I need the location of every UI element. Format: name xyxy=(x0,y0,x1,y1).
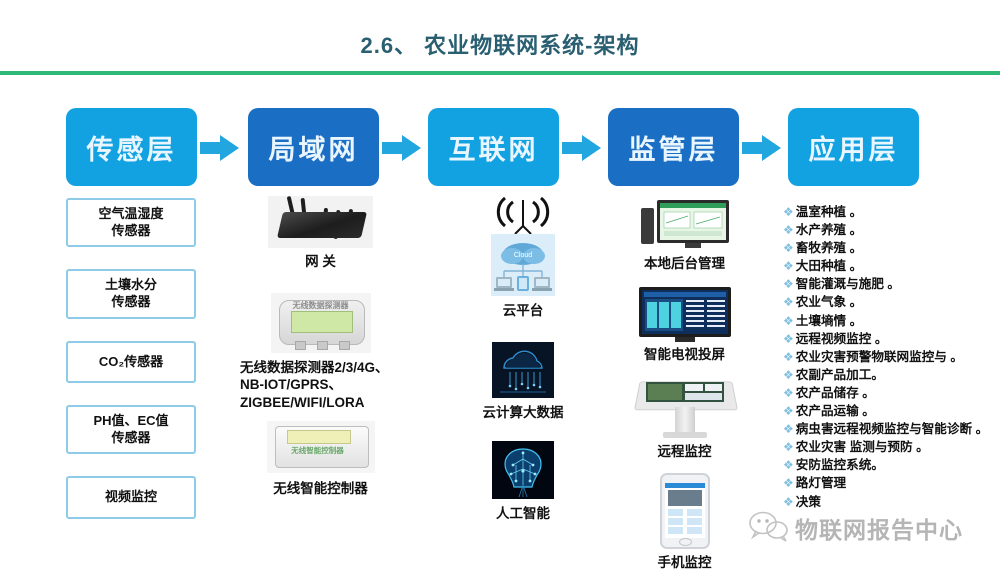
list-item[interactable]: ❖远程视频监控 。 xyxy=(783,330,998,348)
bullet-icon: ❖ xyxy=(783,203,794,221)
big-data-caption: 云计算大数据 xyxy=(448,404,598,422)
bullet-icon: ❖ xyxy=(783,384,794,402)
app-item-label: 土壤墒情 。 xyxy=(796,312,862,330)
smartphone-icon xyxy=(660,473,710,549)
flow-box-label: 互联网 xyxy=(449,128,539,167)
app-item-label: 大田种植 。 xyxy=(796,257,862,275)
desktop-pc-icon xyxy=(639,198,731,252)
flow-box-internet-layer[interactable]: 互联网 xyxy=(428,108,559,186)
remote-monitoring-caption: 远程监控 xyxy=(622,443,747,461)
bullet-icon: ❖ xyxy=(783,438,794,456)
gateway-caption: 网 关 xyxy=(238,253,403,271)
sensor-item-ph-ec[interactable]: PH值、EC值 传感器 xyxy=(66,405,196,454)
app-item-label: 路灯管理 xyxy=(796,474,846,492)
list-item[interactable]: ❖农产品储存 。 xyxy=(783,384,998,402)
list-item[interactable]: ❖农副产品加工。 xyxy=(783,366,998,384)
sensor-label-line1: PH值、EC值 xyxy=(93,413,168,428)
detector-device-label: 无线数据探测器 xyxy=(281,300,361,311)
sensor-label-line2: 传感器 xyxy=(70,223,192,240)
app-item-label: 智能灌溉与施肥 。 xyxy=(796,275,900,293)
sensor-item-air-temp-humidity[interactable]: 空气温湿度 传感器 xyxy=(66,198,196,247)
sensor-item-co2[interactable]: CO₂传感器 xyxy=(66,341,196,384)
bullet-icon: ❖ xyxy=(783,312,794,330)
list-item[interactable]: ❖智能灌溉与施肥 。 xyxy=(783,275,998,293)
page-title: 2.6、 农业物联网系统-架构 xyxy=(0,28,1000,60)
flow-arrow-3 xyxy=(562,134,602,162)
list-item[interactable]: ❖农产品运输 。 xyxy=(783,402,998,420)
bullet-icon: ❖ xyxy=(783,420,794,438)
smart-tv-caption: 智能电视投屏 xyxy=(622,346,747,364)
mobile-monitoring-caption: 手机监控 xyxy=(622,554,747,571)
list-item[interactable]: ❖农业灾害 监测与预防 。 xyxy=(783,438,998,456)
flow-box-supervision-layer[interactable]: 监管层 xyxy=(608,108,739,186)
flow-box-label: 应用层 xyxy=(809,128,899,167)
app-item-label: 农业气象 。 xyxy=(796,293,862,311)
flow-arrow-2 xyxy=(382,134,422,162)
title-divider xyxy=(0,71,1000,75)
flow-box-label: 传感层 xyxy=(87,128,177,167)
app-item-label: 病虫害远程视频监控与智能诊断 。 xyxy=(796,420,988,438)
app-item-label: 农产品运输 。 xyxy=(796,402,875,420)
app-item-label: 畜牧养殖 。 xyxy=(796,239,862,257)
list-item[interactable]: ❖大田种植 。 xyxy=(783,257,998,275)
sensor-label-line2: 传感器 xyxy=(70,294,192,311)
supervision-layer-column: 本地后台管理 智能电视投屏 xyxy=(622,198,747,571)
sensor-layer-column: 空气温湿度 传感器 土壤水分 传感器 CO₂传感器 PH值、EC值 传感器 视频… xyxy=(66,198,196,541)
flow-box-application-layer[interactable]: 应用层 xyxy=(788,108,919,186)
app-item-label: 农业灾害预警物联网监控与 。 xyxy=(796,348,963,366)
smart-tv-icon xyxy=(639,287,731,343)
sensor-label-line1: 空气温湿度 xyxy=(98,206,163,221)
bullet-icon: ❖ xyxy=(783,402,794,420)
cloud-platform-icon: Cloud xyxy=(491,234,555,296)
ai-brain-caption: 人工智能 xyxy=(448,505,598,523)
bullet-icon: ❖ xyxy=(783,348,794,366)
sensor-label-line2: 传感器 xyxy=(70,430,192,447)
sensor-item-video-surveillance[interactable]: 视频监控 xyxy=(66,476,196,519)
flow-box-label: 局域网 xyxy=(269,128,359,167)
bullet-icon: ❖ xyxy=(783,366,794,384)
wireless-controller-caption: 无线智能控制器 xyxy=(238,480,403,498)
wireless-controller-image: 无线智能控制器 xyxy=(267,421,375,473)
app-item-label: 农副产品加工。 xyxy=(796,366,884,384)
app-item-label: 水产养殖 。 xyxy=(796,221,862,239)
wechat-logo-icon xyxy=(747,510,789,547)
flow-box-sensor-layer[interactable]: 传感层 xyxy=(66,108,197,186)
bullet-icon: ❖ xyxy=(783,474,794,492)
controller-device-label: 无线智能控制器 xyxy=(281,445,355,456)
app-item-label: 远程视频监控 。 xyxy=(796,330,888,348)
architecture-flow-row: 传感层 局域网 互联网 监管层 应用层 xyxy=(0,108,1000,186)
list-item[interactable]: ❖土壤墒情 。 xyxy=(783,312,998,330)
flow-box-lan-layer[interactable]: 局域网 xyxy=(248,108,379,186)
application-layer-column: ❖温室种植 。 ❖水产养殖 。 ❖畜牧养殖 。 ❖大田种植 。 ❖智能灌溉与施肥… xyxy=(783,203,998,511)
wireless-detector-image: 无线数据探测器 xyxy=(271,293,371,353)
flow-box-label: 监管层 xyxy=(629,128,719,167)
detector-caption-line1: 无线数据探测器2/3/4G、 xyxy=(240,359,403,377)
cloud-platform-caption: 云平台 xyxy=(448,302,598,320)
list-item[interactable]: ❖农业灾害预警物联网监控与 。 xyxy=(783,348,998,366)
app-item-label: 安防监控系统。 xyxy=(796,456,884,474)
list-item[interactable]: ❖水产养殖 。 xyxy=(783,221,998,239)
ai-brain-icon xyxy=(492,441,554,499)
list-item[interactable]: ❖温室种植 。 xyxy=(783,203,998,221)
list-item[interactable]: ❖安防监控系统。 xyxy=(783,456,998,474)
internet-layer-column: Cloud 云平台 xyxy=(448,196,598,523)
detector-caption-line3: ZIGBEE/WIFI/LORA xyxy=(240,394,403,412)
bullet-icon: ❖ xyxy=(783,275,794,293)
flow-arrow-4 xyxy=(742,134,782,162)
flow-arrow-1 xyxy=(200,134,240,162)
bullet-icon: ❖ xyxy=(783,257,794,275)
sensor-label-line1: 土壤水分 xyxy=(105,277,157,292)
svg-text:Cloud: Cloud xyxy=(514,252,532,259)
local-backend-caption: 本地后台管理 xyxy=(622,255,747,273)
list-item[interactable]: ❖病虫害远程视频监控与智能诊断 。 xyxy=(783,420,998,438)
watermark: 物联网报告中心 xyxy=(747,505,997,551)
lan-layer-column: 网 关 无线数据探测器 无线数据探测器2/3/4G、 NB-IOT/GPRS、 … xyxy=(238,196,403,498)
bullet-icon: ❖ xyxy=(783,330,794,348)
list-item[interactable]: ❖路灯管理 xyxy=(783,474,998,492)
watermark-text: 物联网报告中心 xyxy=(795,511,963,545)
sensor-label-line1: 视频监控 xyxy=(105,489,157,504)
wireless-detector-caption: 无线数据探测器2/3/4G、 NB-IOT/GPRS、 ZIGBEE/WIFI/… xyxy=(238,359,403,412)
bullet-icon: ❖ xyxy=(783,239,794,257)
router-gateway-image xyxy=(268,196,373,248)
bullet-icon: ❖ xyxy=(783,293,794,311)
app-item-label: 农产品储存 。 xyxy=(796,384,875,402)
app-item-label: 温室种植 。 xyxy=(796,203,862,221)
bullet-icon: ❖ xyxy=(783,456,794,474)
antenna-signal-icon xyxy=(488,196,558,234)
bullet-icon: ❖ xyxy=(783,221,794,239)
detector-caption-line2: NB-IOT/GPRS、 xyxy=(240,376,403,394)
sensor-item-soil-moisture[interactable]: 土壤水分 传感器 xyxy=(66,269,196,318)
list-item[interactable]: ❖农业气象 。 xyxy=(783,293,998,311)
list-item[interactable]: ❖畜牧养殖 。 xyxy=(783,239,998,257)
big-data-icon xyxy=(492,342,554,398)
sensor-label-line1: CO₂传感器 xyxy=(99,354,163,369)
kiosk-icon xyxy=(637,377,733,439)
app-item-label: 农业灾害 监测与预防 。 xyxy=(796,438,929,456)
